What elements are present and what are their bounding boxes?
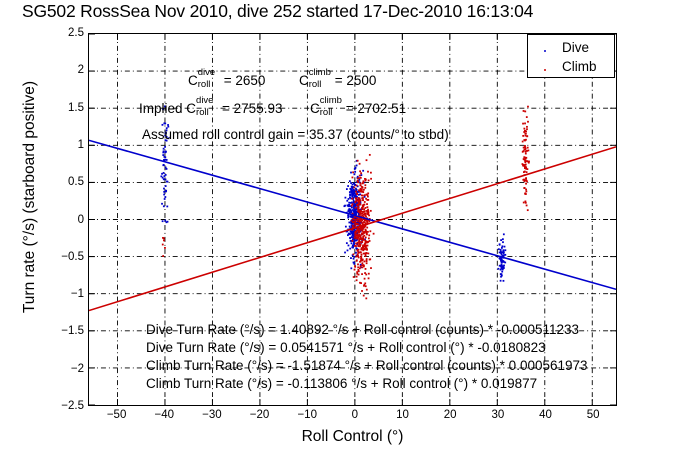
x-tick-label: 20 <box>444 409 457 421</box>
fit-line-dive <box>89 140 616 289</box>
c-dive-roll-symbol: Cdiveroll <box>188 73 198 88</box>
legend-marker-icon <box>534 41 556 54</box>
x-tick-label: 10 <box>396 409 409 421</box>
figure-title: SG502 RossSea Nov 2010, dive 252 started… <box>22 1 681 22</box>
figure-canvas: SG502 RossSea Nov 2010, dive 252 started… <box>0 0 681 454</box>
y-tick-label: −2.5 <box>61 400 84 412</box>
y-tick-label: 2 <box>78 64 84 76</box>
x-tick-label: −50 <box>107 409 127 421</box>
y-axis-label: Turn rate (°/s) (starboard positive) <box>21 17 39 377</box>
y-tick-label: 2.5 <box>68 27 84 39</box>
x-tick-label: 0 <box>352 409 358 421</box>
implied-c-climb-value: = 2702.51 <box>346 101 406 116</box>
legend-item[interactable]: Dive <box>528 38 614 57</box>
implied-c-climb-symbol: Cclimbroll <box>310 101 320 116</box>
equation-climb-degrees: Climb Turn Rate (°/s) = -0.113806 °/s + … <box>146 376 537 391</box>
x-axis-ticklabels: −50−40−30−20−1001020304050 <box>88 409 617 427</box>
x-tick-label: 50 <box>587 409 600 421</box>
annotation-implied-c-roll: Implied Cdiveroll= 2755.93 Cclimbroll= 2… <box>139 101 406 116</box>
annotation-roll-control-gain: Assumed roll control gain = 35.37 (count… <box>142 127 449 142</box>
annotation-c-roll-setpoints: Cdiveroll= 2650 Cclimbroll= 2500 <box>188 73 376 88</box>
y-tick-label: −1.5 <box>61 325 84 337</box>
fit-line-climb <box>89 147 616 311</box>
x-tick-label: −30 <box>202 409 222 421</box>
y-axis-ticklabels: −2.5−2−1.5−1−0.500.511.522.5 <box>44 33 84 406</box>
y-tick-label: 1.5 <box>68 102 84 114</box>
c-climb-roll-value: = 2500 <box>335 73 377 88</box>
implied-c-dive-value: = 2755.93 <box>222 101 282 116</box>
legend-label: Dive <box>556 40 589 55</box>
x-axis-label: Roll Control (°) <box>88 428 617 446</box>
y-tick-label: −2 <box>71 363 84 375</box>
x-tick-label: 40 <box>539 409 552 421</box>
x-tick-label: −10 <box>297 409 317 421</box>
legend-marker-icon <box>534 60 556 73</box>
x-tick-label: 30 <box>491 409 504 421</box>
y-tick-label: −0.5 <box>61 251 84 263</box>
x-tick-label: −20 <box>250 409 270 421</box>
implied-c-dive-symbol: Cdiveroll <box>186 101 196 116</box>
y-tick-label: −1 <box>71 288 84 300</box>
implied-prefix: Implied <box>139 101 186 116</box>
c-dive-roll-value: = 2650 <box>224 73 266 88</box>
legend-label: Climb <box>556 59 597 74</box>
legend[interactable]: DiveClimb <box>527 34 615 78</box>
legend-item[interactable]: Climb <box>528 57 614 76</box>
equation-dive-degrees: Dive Turn Rate (°/s) = 0.0541571 °/s + R… <box>146 340 546 355</box>
y-axis-label-wrapper: Turn rate (°/s) (starboard positive) <box>0 0 1 1</box>
y-tick-label: 0.5 <box>68 176 84 188</box>
c-climb-roll-symbol: Cclimbroll <box>299 73 309 88</box>
y-tick-label: 0 <box>78 214 84 226</box>
y-tick-label: 1 <box>78 139 84 151</box>
equation-dive-counts: Dive Turn Rate (°/s) = 1.40892 °/s + Rol… <box>146 322 579 337</box>
equation-climb-counts: Climb Turn Rate (°/s) = -1.51874 °/s + R… <box>146 358 588 373</box>
x-tick-label: −40 <box>154 409 174 421</box>
